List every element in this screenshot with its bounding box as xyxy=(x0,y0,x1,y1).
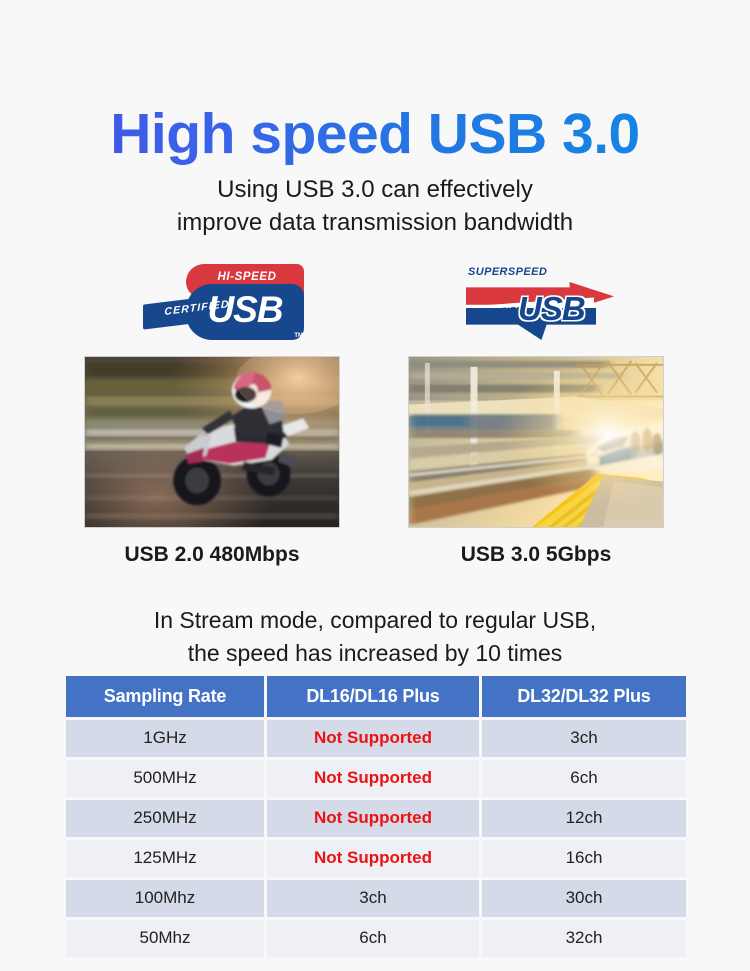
motorcycle-motion-blur-illustration xyxy=(85,357,339,527)
cell-dl32-channels: 30ch xyxy=(482,880,686,917)
high-speed-train-motion-blur-illustration xyxy=(409,357,663,527)
cell-sampling-rate: 100Mhz xyxy=(66,880,264,917)
stream-note-line-1: In Stream mode, compared to regular USB, xyxy=(0,604,750,637)
superspeed-usb-certified-logo: SUPERSPEED CERTIFIED USB xyxy=(466,262,614,342)
cell-sampling-rate: 1GHz xyxy=(66,720,264,757)
table-row: 500MHzNot Supported6ch xyxy=(66,760,686,797)
page-title: High speed USB 3.0 xyxy=(0,100,750,168)
cell-dl32-channels: 6ch xyxy=(482,760,686,797)
hi-speed-usb-wordmark: USB xyxy=(188,288,302,332)
trademark-label: TM xyxy=(294,333,303,339)
column-header-sampling-rate: Sampling Rate xyxy=(66,676,264,717)
table-row: 125MHzNot Supported16ch xyxy=(66,840,686,877)
subtitle-line-1: Using USB 3.0 can effectively xyxy=(0,173,750,206)
cell-dl32-channels: 12ch xyxy=(482,800,686,837)
cell-dl32-channels: 16ch xyxy=(482,840,686,877)
usb2-speed-photo xyxy=(84,356,340,528)
cell-dl16-not-supported: Not Supported xyxy=(267,800,479,837)
superspeed-label: SUPERSPEED xyxy=(468,266,547,278)
cell-sampling-rate: 50Mhz xyxy=(66,920,264,957)
cell-dl16-not-supported: Not Supported xyxy=(267,720,479,757)
cell-dl16-channels: 6ch xyxy=(267,920,479,957)
cell-sampling-rate: 125MHz xyxy=(66,840,264,877)
stream-mode-note: In Stream mode, compared to regular USB,… xyxy=(0,604,750,670)
usb3-caption: USB 3.0 5Gbps xyxy=(406,543,666,567)
sampling-rate-table: Sampling Rate DL16/DL16 Plus DL32/DL32 P… xyxy=(66,676,686,957)
usb2-caption: USB 2.0 480Mbps xyxy=(82,543,342,567)
stream-note-line-2: the speed has increased by 10 times xyxy=(0,637,750,670)
hi-speed-label: HI-SPEED xyxy=(195,271,299,283)
usb-logo-row: HI-SPEED CERTIFIED USB TM SUPERSPEED CER… xyxy=(0,262,750,346)
page-subtitle: Using USB 3.0 can effectively improve da… xyxy=(0,173,750,239)
table-row: 50Mhz6ch32ch xyxy=(66,920,686,957)
cell-dl32-channels: 3ch xyxy=(482,720,686,757)
table-header-row: Sampling Rate DL16/DL16 Plus DL32/DL32 P… xyxy=(66,676,686,717)
cell-sampling-rate: 500MHz xyxy=(66,760,264,797)
column-header-dl16: DL16/DL16 Plus xyxy=(267,676,479,717)
cell-dl16-not-supported: Not Supported xyxy=(267,840,479,877)
table-row: 1GHzNot Supported3ch xyxy=(66,720,686,757)
table-body: 1GHzNot Supported3ch500MHzNot Supported6… xyxy=(66,720,686,957)
hi-speed-usb-certified-logo: HI-SPEED CERTIFIED USB TM xyxy=(143,264,305,340)
cell-dl32-channels: 32ch xyxy=(482,920,686,957)
cell-dl16-not-supported: Not Supported xyxy=(267,760,479,797)
cell-dl16-channels: 3ch xyxy=(267,880,479,917)
table-row: 250MHzNot Supported12ch xyxy=(66,800,686,837)
column-header-dl32: DL32/DL32 Plus xyxy=(482,676,686,717)
cell-sampling-rate: 250MHz xyxy=(66,800,264,837)
table-row: 100Mhz3ch30ch xyxy=(66,880,686,917)
product-feature-page: High speed USB 3.0 Using USB 3.0 can eff… xyxy=(0,0,750,971)
usb3-speed-photo xyxy=(408,356,664,528)
subtitle-line-2: improve data transmission bandwidth xyxy=(0,206,750,239)
superspeed-usb-wordmark: USB xyxy=(518,290,585,328)
